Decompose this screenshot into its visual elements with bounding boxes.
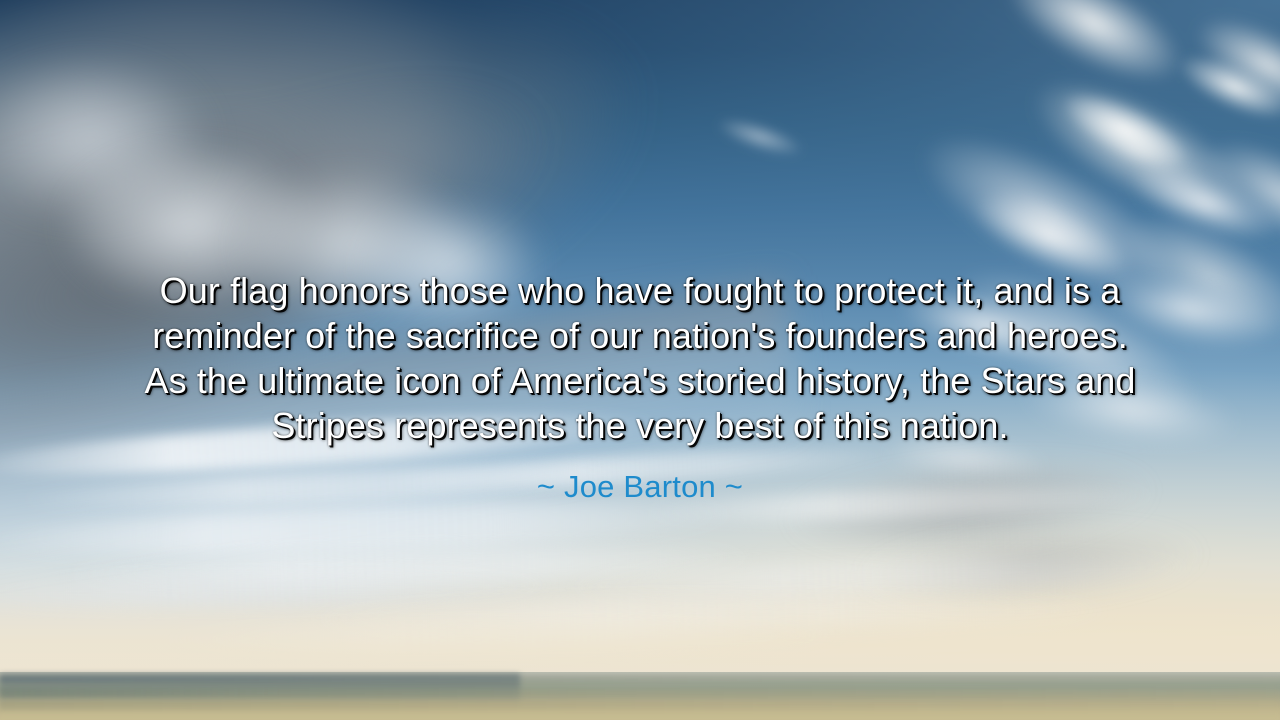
land-band-1 <box>0 688 1280 698</box>
quote-line-4: Stripes represents the very best of this… <box>120 403 1160 448</box>
land-foreground <box>0 706 1280 720</box>
quote-line-1: Our flag honors those who have fought to… <box>120 268 1160 313</box>
quote-block: Our flag honors those who have fought to… <box>120 268 1160 448</box>
horizon-line <box>0 678 1280 681</box>
quote-image-canvas: Our flag honors those who have fought to… <box>0 0 1280 720</box>
quote-author: ~ Joe Barton ~ <box>0 469 1280 505</box>
quote-line-3: As the ultimate icon of America's storie… <box>120 358 1160 403</box>
quote-line-2: reminder of the sacrifice of our nation'… <box>120 313 1160 358</box>
